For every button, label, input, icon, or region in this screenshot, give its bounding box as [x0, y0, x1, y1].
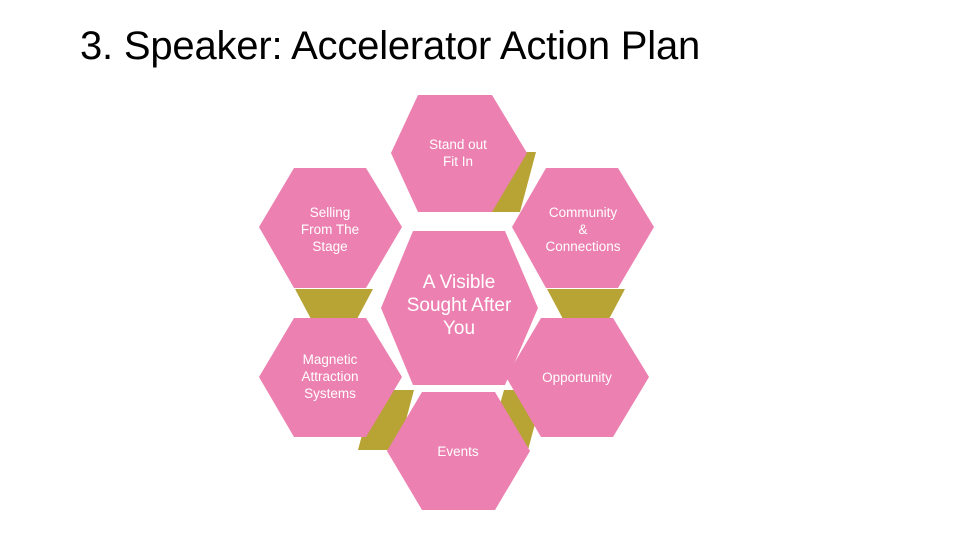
hex-center-line2: Sought After	[407, 295, 512, 316]
hex-center-line1: A Visible	[423, 272, 496, 293]
slide-canvas: 3. Speaker: Accelerator Action Plan Stan…	[0, 0, 960, 540]
hex-selling-from-the-stage-line1: Selling	[310, 205, 351, 220]
connector-top-right-to-bottom-right	[547, 289, 625, 319]
hex-selling-from-the-stage-line2: From The	[301, 222, 359, 237]
hex-community-connections-line1: Community	[549, 205, 618, 220]
hex-opportunity-line1: Opportunity	[542, 370, 612, 385]
hex-selling-from-the-stage-line3: Stage	[312, 239, 347, 254]
hex-community-connections-line2: &	[578, 222, 587, 237]
hex-magnetic-attraction-systems-line3: Systems	[304, 386, 356, 401]
hex-center-line3: You	[443, 318, 475, 339]
hex-stand-out-fit-in-line2: Fit In	[443, 154, 473, 169]
hexagon-cluster-diagram: Stand out Fit In Community & Connections…	[0, 0, 960, 540]
hex-community-connections[interactable]: Community & Connections	[512, 168, 654, 288]
hex-community-connections-line3: Connections	[545, 239, 620, 254]
connector-bottom-left-to-top-left	[295, 289, 373, 319]
hex-stand-out-fit-in-line1: Stand out	[429, 137, 487, 152]
hex-events-line1: Events	[437, 444, 479, 459]
hex-magnetic-attraction-systems-line1: Magnetic	[303, 352, 358, 367]
hex-selling-from-the-stage[interactable]: Selling From The Stage	[259, 168, 402, 288]
hex-center-a-visible-sought-after-you[interactable]: A Visible Sought After You	[381, 231, 538, 385]
hex-magnetic-attraction-systems-line2: Attraction	[301, 369, 358, 384]
